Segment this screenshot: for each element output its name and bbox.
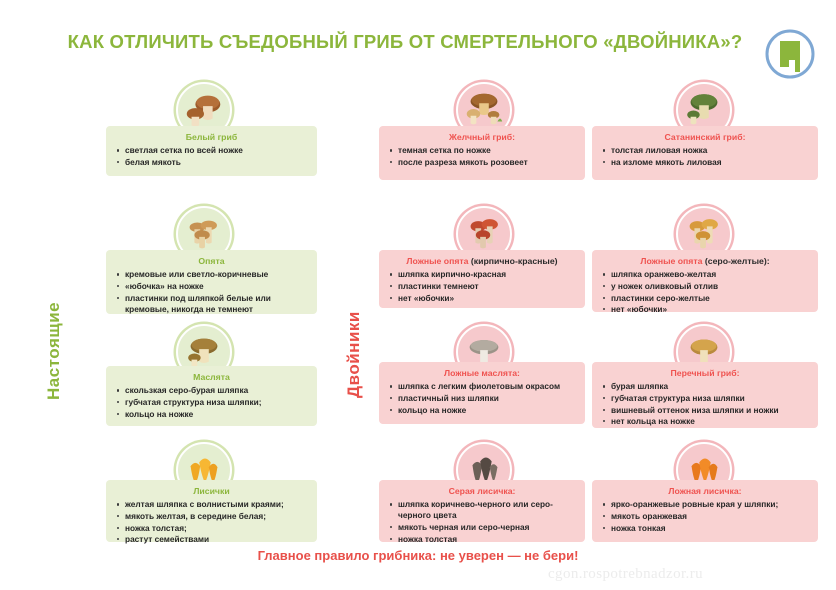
bullet: мякоть желтая, в середине белая; xyxy=(114,511,309,522)
card-bullets: кремовые или светло-коричневые «юбочка» … xyxy=(114,269,309,314)
card-bullets: шляпка с легким фиолетовым окрасом пласт… xyxy=(387,381,577,415)
card-title: Ложные маслята: xyxy=(387,368,577,378)
card-title: Лисички xyxy=(114,486,309,496)
bullet: нет «юбочки» xyxy=(387,293,577,304)
real-card: Лисички желтая шляпка с волнистыми краям… xyxy=(106,480,317,542)
card-bullets: светлая сетка по всей ножке белая мякоть xyxy=(114,145,309,168)
fake-card: Желчный гриб: темная сетка по ножке посл… xyxy=(379,126,585,180)
real-card: Опята кремовые или светло-коричневые «юб… xyxy=(106,250,317,314)
card-bullets: желтая шляпка с волнистыми краями; мякот… xyxy=(114,499,309,545)
card-title: Серая лисичка: xyxy=(387,486,577,496)
fake-card: Перечный гриб: бурая шляпка губчатая стр… xyxy=(592,362,818,428)
bullet: шляпка с легким фиолетовым окрасом xyxy=(387,381,577,392)
bullet: темная сетка по ножке xyxy=(387,145,577,156)
bullet: ярко-оранжевые ровные края у шляпки; xyxy=(600,499,810,510)
card-title: Белый гриб xyxy=(114,132,309,142)
card-title: Желчный гриб: xyxy=(387,132,577,142)
bullet: на изломе мякоть лиловая xyxy=(600,157,810,168)
card-title: Сатанинский гриб: xyxy=(600,132,810,142)
fake-card: Сатанинский гриб: толстая лиловая ножка … xyxy=(592,126,818,180)
fake-card: Серая лисичка: шляпка коричнево-черного … xyxy=(379,480,585,542)
bullet: ножка толстая; xyxy=(114,523,309,534)
footer-rule: Главное правило грибника: не уверен — не… xyxy=(0,548,836,563)
card-bullets: ярко-оранжевые ровные края у шляпки; мяк… xyxy=(600,499,810,533)
bullet: вишневый оттенок низа шляпки и ножки xyxy=(600,405,810,416)
bullet: мякоть черная или серо-черная xyxy=(387,522,577,533)
card-title: Ложные опята (серо-желтые): xyxy=(600,256,810,266)
bullet: после разреза мякоть розовеет xyxy=(387,157,577,168)
bullet: нет кольца на ножке xyxy=(600,416,810,427)
side-label-fake: Двойники xyxy=(344,311,364,398)
bullet: губчатая структура низа шляпки; xyxy=(114,397,309,408)
side-label-real: Настоящие xyxy=(44,302,64,400)
bullet: растут семействами xyxy=(114,534,309,545)
card-bullets: шляпка коричнево-черного или серо-черног… xyxy=(387,499,577,544)
fake-card: Ложные опята (серо-желтые): шляпка оранж… xyxy=(592,250,818,312)
bullet: пластичный низ шляпки xyxy=(387,393,577,404)
bullet: пластинки темнеют xyxy=(387,281,577,292)
card-bullets: шляпка оранжево-желтая у ножек оливковый… xyxy=(600,269,810,315)
real-card: Белый гриб светлая сетка по всей ножке б… xyxy=(106,126,317,176)
page-title: КАК ОТЛИЧИТЬ СЪЕДОБНЫЙ ГРИБ ОТ СМЕРТЕЛЬН… xyxy=(60,30,750,54)
bullet: шляпка оранжево-желтая xyxy=(600,269,810,280)
bullet: скользкая серо-бурая шляпка xyxy=(114,385,309,396)
bullet: нет «юбочки» xyxy=(600,304,810,315)
cgon-logo xyxy=(764,28,816,80)
bullet: ножка тонкая xyxy=(600,523,810,534)
bullet: ножка толстая xyxy=(387,534,577,545)
fake-card: Ложная лисичка: ярко-оранжевые ровные кр… xyxy=(592,480,818,542)
bullet: белая мякоть xyxy=(114,157,309,168)
bullet: «юбочка» на ножке xyxy=(114,281,309,292)
bullet: кольцо на ножке xyxy=(114,409,309,420)
fake-card: Ложные маслята: шляпка с легким фиолетов… xyxy=(379,362,585,424)
bullet: пластинки под шляпкой белые или кремовые… xyxy=(114,293,309,315)
bullet: толстая лиловая ножка xyxy=(600,145,810,156)
card-title: Ложные опята (кирпично-красные) xyxy=(387,256,577,266)
bullet: желтая шляпка с волнистыми краями; xyxy=(114,499,309,510)
infographic-page: КАК ОТЛИЧИТЬ СЪЕДОБНЫЙ ГРИБ ОТ СМЕРТЕЛЬН… xyxy=(0,0,836,590)
card-bullets: бурая шляпка губчатая структура низа шля… xyxy=(600,381,810,427)
fake-card: Ложные опята (кирпично-красные) шляпка к… xyxy=(379,250,585,308)
bullet: губчатая структура низа шляпки xyxy=(600,393,810,404)
card-title: Маслята xyxy=(114,372,309,382)
bullet: у ножек оливковый отлив xyxy=(600,281,810,292)
bullet: мякоть оранжевая xyxy=(600,511,810,522)
bullet: кольцо на ножке xyxy=(387,405,577,416)
bullet: пластинки серо-желтые xyxy=(600,293,810,304)
real-card: Маслята скользкая серо-бурая шляпка губч… xyxy=(106,366,317,426)
card-bullets: толстая лиловая ножка на изломе мякоть л… xyxy=(600,145,810,168)
bullet: кремовые или светло-коричневые xyxy=(114,269,309,280)
card-title: Ложная лисичка: xyxy=(600,486,810,496)
watermark: cgon.rospotrebnadzor.ru xyxy=(548,566,703,583)
bullet: шляпка коричнево-черного или серо-черног… xyxy=(387,499,577,521)
card-title: Опята xyxy=(114,256,309,266)
card-bullets: скользкая серо-бурая шляпка губчатая стр… xyxy=(114,385,309,419)
bullet: бурая шляпка xyxy=(600,381,810,392)
bullet: шляпка кирпично-красная xyxy=(387,269,577,280)
bullet: светлая сетка по всей ножке xyxy=(114,145,309,156)
card-bullets: темная сетка по ножке после разреза мяко… xyxy=(387,145,577,168)
card-title: Перечный гриб: xyxy=(600,368,810,378)
card-bullets: шляпка кирпично-красная пластинки темнею… xyxy=(387,269,577,303)
